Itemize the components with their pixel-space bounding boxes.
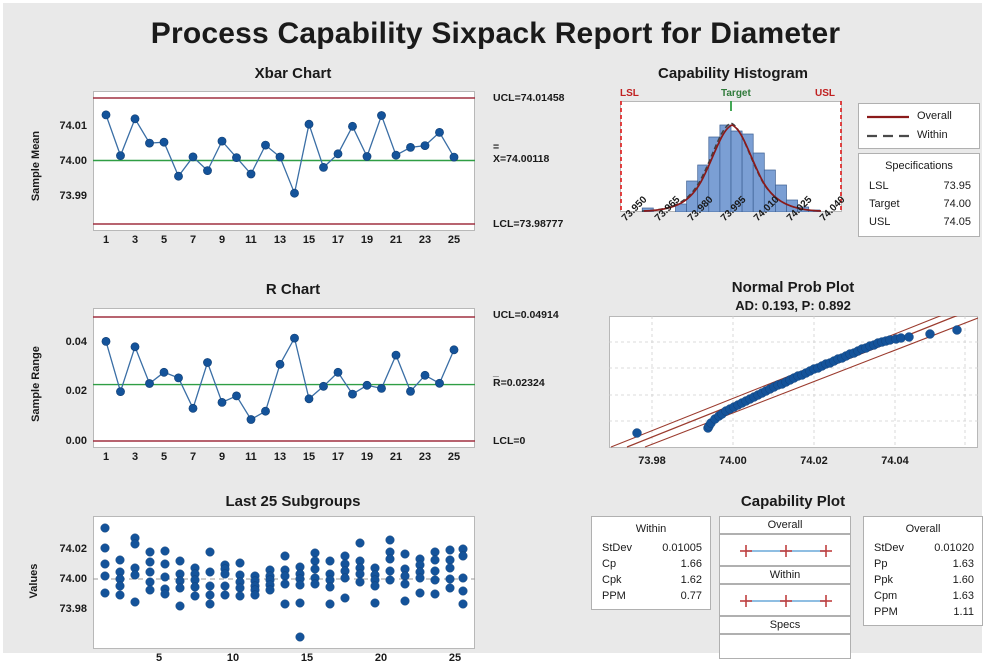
capability-row-within-label: Within	[719, 566, 851, 584]
capability-row-within-bar	[719, 584, 851, 616]
capability-plot-title: Capability Plot	[603, 493, 983, 510]
spec-key-lsl: LSL	[869, 180, 889, 192]
subgroups-xtick-4: 25	[442, 652, 468, 664]
within-value-stdev: 0.01005	[640, 542, 702, 554]
r-chart-xtick-6: 13	[267, 451, 293, 463]
subgroups-ytick-0: 74.02	[27, 543, 87, 555]
prob-plot-xtick-1: 74.00	[707, 455, 759, 467]
sixpack-report: Process Capability Sixpack Report for Di…	[0, 0, 985, 656]
r-chart-xtick-9: 19	[354, 451, 380, 463]
histogram-target-marker: Target	[721, 88, 751, 99]
spec-key-usl: USL	[869, 216, 890, 228]
r-chart-xtick-3: 7	[180, 451, 206, 463]
r-chart-xtick-4: 9	[209, 451, 235, 463]
capability-row-overall-label: Overall	[719, 516, 851, 534]
specifications-heading: Specifications	[859, 160, 979, 172]
xbar-lcl-label: LCL=73.98777	[493, 218, 563, 230]
r-chart-center-label: R=0.02324	[493, 377, 545, 389]
xbar-ytick-0: 74.01	[31, 120, 87, 132]
overall-key-ppk: Ppk	[874, 574, 893, 586]
subgroups-svg	[93, 516, 475, 649]
r-chart-ytick-1: 0.02	[31, 385, 87, 397]
subgroups-ytick-2: 73.98	[27, 603, 87, 615]
xbar-xtick-9: 19	[354, 234, 380, 246]
spec-value-target: 74.00	[909, 198, 971, 210]
spec-value-lsl: 73.95	[909, 180, 971, 192]
subgroups-xtick-1: 10	[220, 652, 246, 664]
overall-value-stdev: 0.01020	[912, 542, 974, 554]
prob-plot-svg	[609, 316, 978, 448]
legend-within-label: Within	[917, 129, 948, 141]
legend-overall-label: Overall	[917, 110, 952, 122]
prob-plot-xtick-2: 74.02	[788, 455, 840, 467]
overall-key-pp: Pp	[874, 558, 887, 570]
r-chart-lcl-label: LCL=0	[493, 435, 525, 447]
r-chart-svg	[93, 308, 475, 448]
xbar-xtick-1: 3	[122, 234, 148, 246]
r-chart-ytick-2: 0.00	[31, 435, 87, 447]
xbar-xtick-11: 23	[412, 234, 438, 246]
within-key-stdev: StDev	[602, 542, 632, 554]
within-key-cp: Cp	[602, 558, 616, 570]
overall-key-stdev: StDev	[874, 542, 904, 554]
r-chart-xtick-1: 3	[122, 451, 148, 463]
subgroups-xtick-2: 15	[294, 652, 320, 664]
xbar-ucl-label: UCL=74.01458	[493, 92, 565, 104]
prob-plot-subtitle: AD: 0.193, P: 0.892	[603, 298, 983, 313]
xbar-xtick-12: 25	[441, 234, 467, 246]
spec-value-usl: 74.05	[909, 216, 971, 228]
legend-overall-line-icon	[867, 115, 909, 119]
subgroups-xtick-0: 5	[146, 652, 172, 664]
r-chart-xtick-7: 15	[296, 451, 322, 463]
xbar-xtick-7: 15	[296, 234, 322, 246]
capability-row-overall-bar	[719, 534, 851, 566]
xbar-chart-title: Xbar Chart	[93, 65, 493, 82]
within-value-cp: 1.66	[640, 558, 702, 570]
xbar-xtick-10: 21	[383, 234, 409, 246]
r-chart-xtick-0: 1	[93, 451, 119, 463]
xbar-center-label: X=74.00118	[493, 153, 549, 165]
subgroups-xtick-3: 20	[368, 652, 394, 664]
overall-stats-heading: Overall	[864, 523, 982, 535]
r-chart-xtick-12: 25	[441, 451, 467, 463]
xbar-xtick-6: 13	[267, 234, 293, 246]
r-chart-xtick-5: 11	[238, 451, 264, 463]
capability-label-within: Within	[720, 569, 850, 581]
prob-plot-xtick-0: 73.98	[626, 455, 678, 467]
r-chart-xtick-10: 21	[383, 451, 409, 463]
r-chart-xtick-2: 5	[151, 451, 177, 463]
r-chart-xtick-8: 17	[325, 451, 351, 463]
within-key-cpk: Cpk	[602, 574, 622, 586]
overall-value-ppm: 1.11	[912, 606, 974, 618]
legend-within-line-icon	[867, 134, 909, 138]
xbar-xtick-5: 11	[238, 234, 264, 246]
r-chart-title: R Chart	[93, 281, 493, 298]
r-chart-xtick-11: 23	[412, 451, 438, 463]
xbar-chart-svg	[93, 91, 475, 231]
specifications-box: Specifications LSL 73.95 Target 74.00 US…	[858, 153, 980, 237]
xbar-xtick-3: 7	[180, 234, 206, 246]
within-stats-box: Within StDev 0.01005 Cp 1.66 Cpk 1.62 PP…	[591, 516, 711, 610]
r-chart-ytick-0: 0.04	[31, 336, 87, 348]
xbar-ytick-1: 74.00	[31, 155, 87, 167]
overall-key-ppm: PPM	[874, 606, 898, 618]
capability-row-specs-label: Specs	[719, 616, 851, 634]
page-title: Process Capability Sixpack Report for Di…	[3, 17, 985, 51]
capability-overall-interval-icon	[720, 535, 852, 567]
subgroups-title: Last 25 Subgroups	[93, 493, 493, 510]
within-value-cpk: 1.62	[640, 574, 702, 586]
overall-value-cpm: 1.63	[912, 590, 974, 602]
overall-value-pp: 1.63	[912, 558, 974, 570]
within-stats-heading: Within	[592, 523, 710, 535]
xbar-xtick-8: 17	[325, 234, 351, 246]
within-key-ppm: PPM	[602, 590, 626, 602]
subgroups-ytick-1: 74.00	[27, 573, 87, 585]
xbar-xtick-0: 1	[93, 234, 119, 246]
capability-label-specs: Specs	[720, 619, 850, 631]
capability-within-interval-icon	[720, 585, 852, 617]
overall-stats-box: Overall StDev 0.01020 Pp 1.63 Ppk 1.60 C…	[863, 516, 983, 626]
histogram-usl-marker: USL	[815, 88, 835, 99]
xbar-center-bar: =	[493, 141, 499, 153]
histogram-lsl-marker: LSL	[620, 88, 639, 99]
prob-plot-xtick-3: 74.04	[869, 455, 921, 467]
overall-value-ppk: 1.60	[912, 574, 974, 586]
prob-plot-title: Normal Prob Plot	[603, 279, 983, 296]
xbar-ytick-2: 73.99	[31, 190, 87, 202]
histogram-title: Capability Histogram	[603, 65, 863, 82]
overall-key-cpm: Cpm	[874, 590, 897, 602]
spec-key-target: Target	[869, 198, 900, 210]
capability-label-overall: Overall	[720, 519, 850, 531]
capability-row-specs-bar	[719, 634, 851, 659]
within-value-ppm: 0.77	[640, 590, 702, 602]
xbar-xtick-4: 9	[209, 234, 235, 246]
r-chart-ucl-label: UCL=0.04914	[493, 309, 559, 321]
histogram-legend: Overall Within	[858, 103, 980, 149]
xbar-xtick-2: 5	[151, 234, 177, 246]
